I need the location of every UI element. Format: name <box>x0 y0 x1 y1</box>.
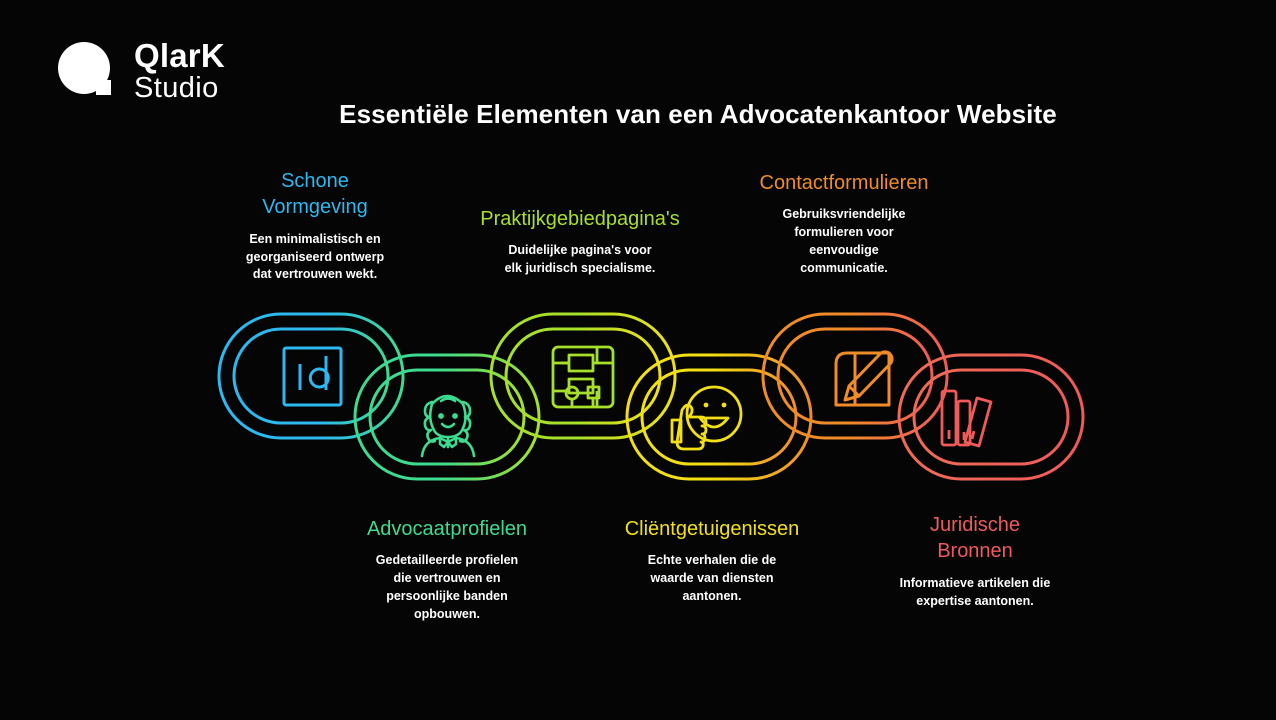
edit-form-pencil-icon <box>836 352 892 405</box>
feature-title-6: Juridische Bronnen <box>884 512 1066 565</box>
chain-diagram <box>200 298 1090 493</box>
feature-description-4: Echte verhalen die de waarde van dienste… <box>604 552 820 605</box>
indesign-id-icon <box>284 348 341 405</box>
logo-wordmark: QlarK Studio <box>134 39 225 103</box>
page-title: Essentiële Elementen van een Advocatenka… <box>0 99 1276 130</box>
chain-link-3 <box>491 314 675 438</box>
chain-link-1 <box>219 314 403 438</box>
chain-link-5 <box>763 314 947 438</box>
feature-title-2: Advocaatprofielen <box>356 516 538 542</box>
feature-caption-3: Praktijkgebiedpagina's Duidelijke pagina… <box>468 206 692 278</box>
feature-title-3: Praktijkgebiedpagina's <box>468 206 692 232</box>
smiley-thumbs-up-icon <box>672 387 741 449</box>
logo-mark-icon <box>58 42 120 104</box>
books-shelf-icon <box>942 391 991 446</box>
feature-title-4: Cliëntgetuigenissen <box>604 516 820 542</box>
feature-description-1: Een minimalistisch en georganiseerd ontw… <box>225 231 405 284</box>
chain-link-6 <box>899 355 1083 479</box>
feature-caption-2: Advocaatprofielen Gedetailleerde profiel… <box>356 516 538 623</box>
feature-caption-5: Contactformulieren Gebruiksvriendelijke … <box>746 170 942 277</box>
feature-description-5: Gebruiksvriendelijke formulieren voor ee… <box>746 206 942 277</box>
feature-caption-6: Juridische Bronnen Informatieve artikele… <box>884 512 1066 610</box>
chain-link-4 <box>627 355 811 479</box>
feature-description-2: Gedetailleerde profielen die vertrouwen … <box>356 552 538 623</box>
logo-name-primary: QlarK <box>134 39 225 72</box>
feature-title-5: Contactformulieren <box>746 170 942 196</box>
feature-caption-4: Cliëntgetuigenissen Echte verhalen die d… <box>604 516 820 606</box>
sitemap-grid-icon <box>553 347 613 407</box>
feature-description-3: Duidelijke pagina's voor elk juridisch s… <box>468 242 692 278</box>
logo-square-shape <box>96 80 111 95</box>
chain-link-2 <box>355 355 539 479</box>
brand-logo: QlarK Studio <box>58 42 225 104</box>
feature-description-6: Informatieve artikelen die expertise aan… <box>884 575 1066 611</box>
chain-svg <box>200 298 1090 493</box>
feature-title-1: Schone Vormgeving <box>225 168 405 221</box>
feature-caption-1: Schone Vormgeving Een minimalistisch en … <box>225 168 405 284</box>
slide-canvas: QlarK Studio Essentiële Elementen van ee… <box>0 0 1276 720</box>
barrister-wig-person-icon <box>422 396 474 456</box>
